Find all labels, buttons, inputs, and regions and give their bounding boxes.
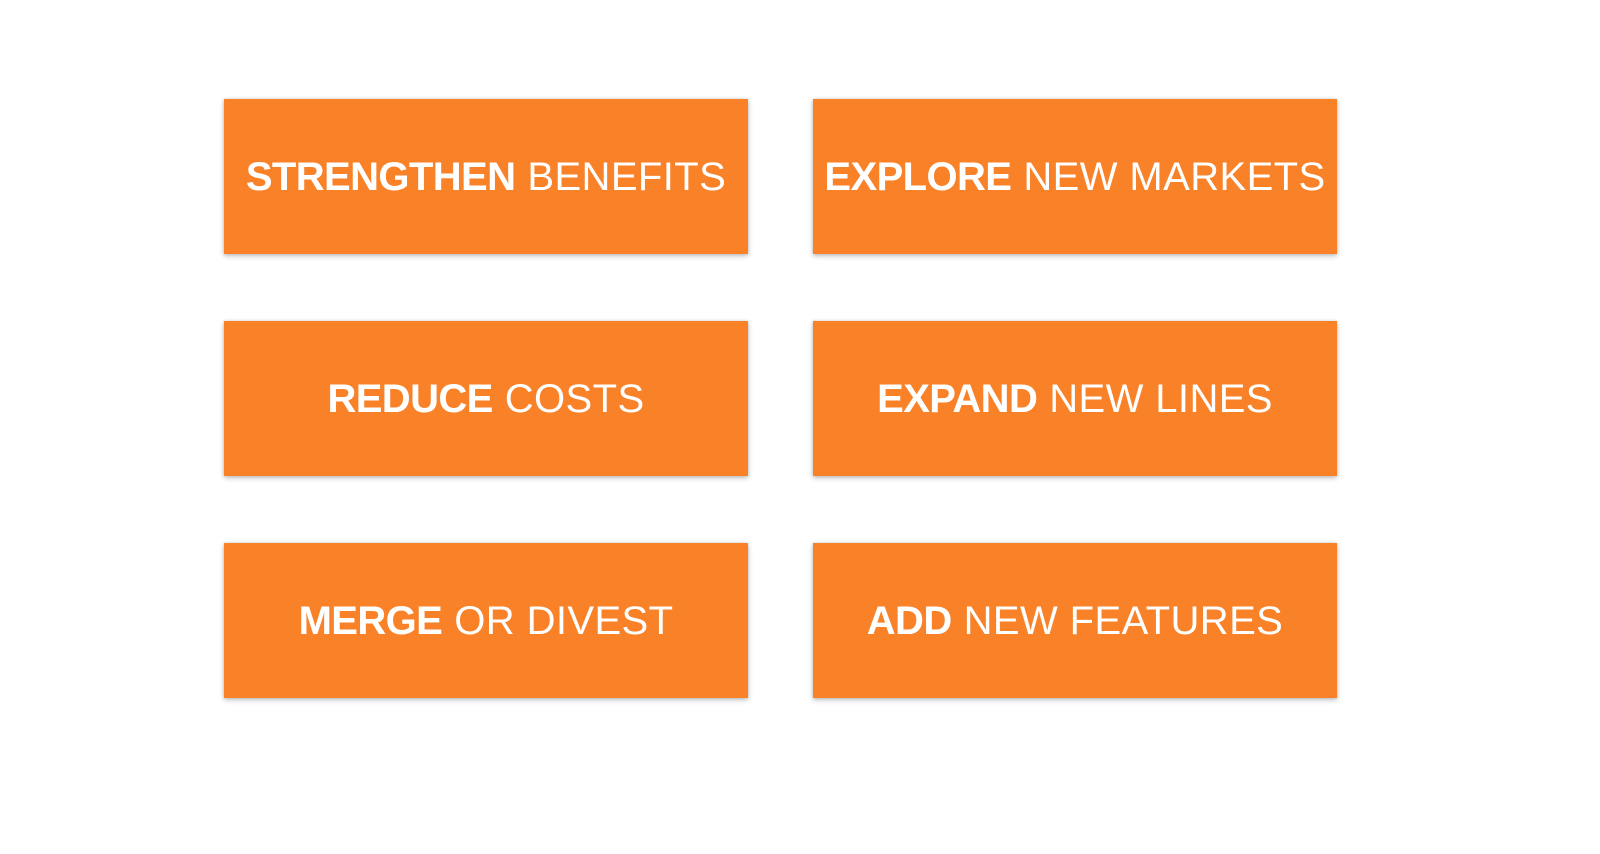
option-emphasis-word: ADD	[867, 601, 952, 641]
slide-canvas: STRENGTHENBENEFITS EXPLORENEW MARKETS RE…	[0, 0, 1600, 854]
option-card-merge-or-divest[interactable]: MERGEOR DIVEST	[224, 543, 748, 698]
option-emphasis-word: EXPAND	[877, 379, 1037, 419]
option-card-add-new-features[interactable]: ADDNEW FEATURES	[813, 543, 1337, 698]
option-card-label: MERGEOR DIVEST	[299, 601, 674, 641]
option-card-label: EXPANDNEW LINES	[877, 379, 1273, 419]
option-emphasis-word: EXPLORE	[824, 157, 1011, 197]
option-remainder-text: NEW FEATURES	[964, 601, 1284, 641]
option-card-strengthen-benefits[interactable]: STRENGTHENBENEFITS	[224, 99, 748, 254]
option-card-label: ADDNEW FEATURES	[867, 601, 1284, 641]
option-card-reduce-costs[interactable]: REDUCECOSTS	[224, 321, 748, 476]
option-remainder-text: NEW LINES	[1049, 379, 1273, 419]
option-emphasis-word: REDUCE	[327, 379, 492, 419]
option-card-explore-new-markets[interactable]: EXPLORENEW MARKETS	[813, 99, 1337, 254]
option-remainder-text: OR DIVEST	[454, 601, 673, 641]
option-emphasis-word: MERGE	[299, 601, 443, 641]
option-emphasis-word: STRENGTHEN	[246, 157, 516, 197]
option-remainder-text: COSTS	[505, 379, 645, 419]
option-card-label: EXPLORENEW MARKETS	[824, 157, 1325, 197]
options-grid: STRENGTHENBENEFITS EXPLORENEW MARKETS RE…	[224, 99, 1337, 698]
option-card-expand-new-lines[interactable]: EXPANDNEW LINES	[813, 321, 1337, 476]
option-card-label: STRENGTHENBENEFITS	[246, 157, 726, 197]
option-card-label: REDUCECOSTS	[327, 379, 644, 419]
option-remainder-text: BENEFITS	[527, 157, 726, 197]
option-remainder-text: NEW MARKETS	[1023, 157, 1325, 197]
